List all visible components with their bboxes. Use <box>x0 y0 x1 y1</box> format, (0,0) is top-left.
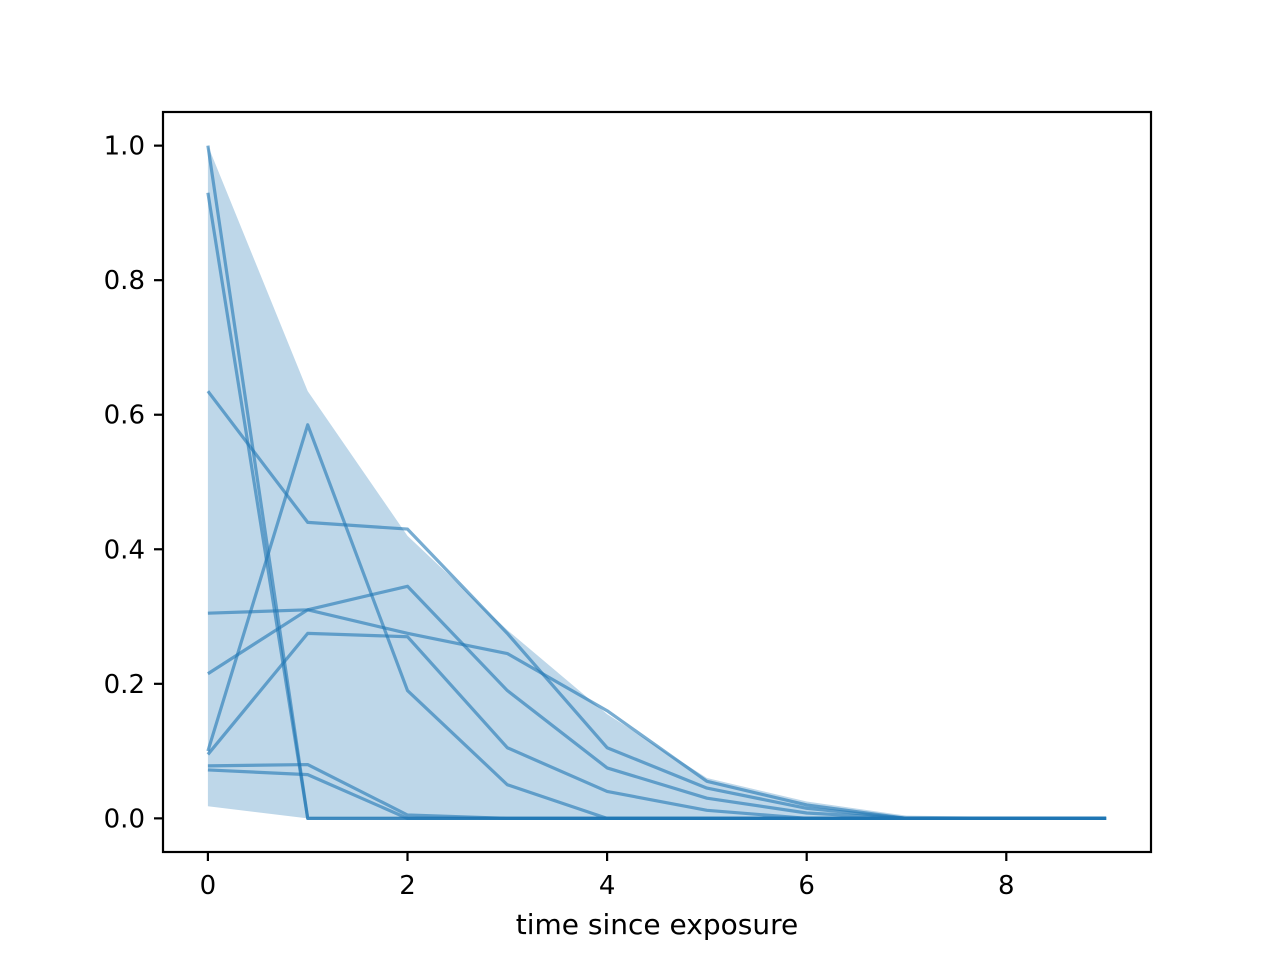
x-axis-label: time since exposure <box>516 908 798 941</box>
y-tick-label: 0.8 <box>104 266 145 296</box>
y-tick-label: 0.4 <box>104 535 145 565</box>
y-tick-label: 0.2 <box>104 670 145 700</box>
y-tick-label: 0.0 <box>104 804 145 834</box>
chart-svg: 02468 0.00.20.40.60.81.0 time since expo… <box>0 0 1280 960</box>
figure-canvas: 02468 0.00.20.40.60.81.0 time since expo… <box>0 0 1280 960</box>
x-tick-label: 2 <box>399 871 416 901</box>
x-tick-label: 0 <box>200 871 217 901</box>
x-tick-label: 4 <box>599 871 616 901</box>
x-tick-label: 6 <box>798 871 815 901</box>
x-tick-label: 8 <box>998 871 1015 901</box>
y-tick-label: 0.6 <box>104 401 145 431</box>
plot-area: 02468 0.00.20.40.60.81.0 time since expo… <box>0 0 1280 960</box>
y-tick-label: 1.0 <box>104 132 145 162</box>
